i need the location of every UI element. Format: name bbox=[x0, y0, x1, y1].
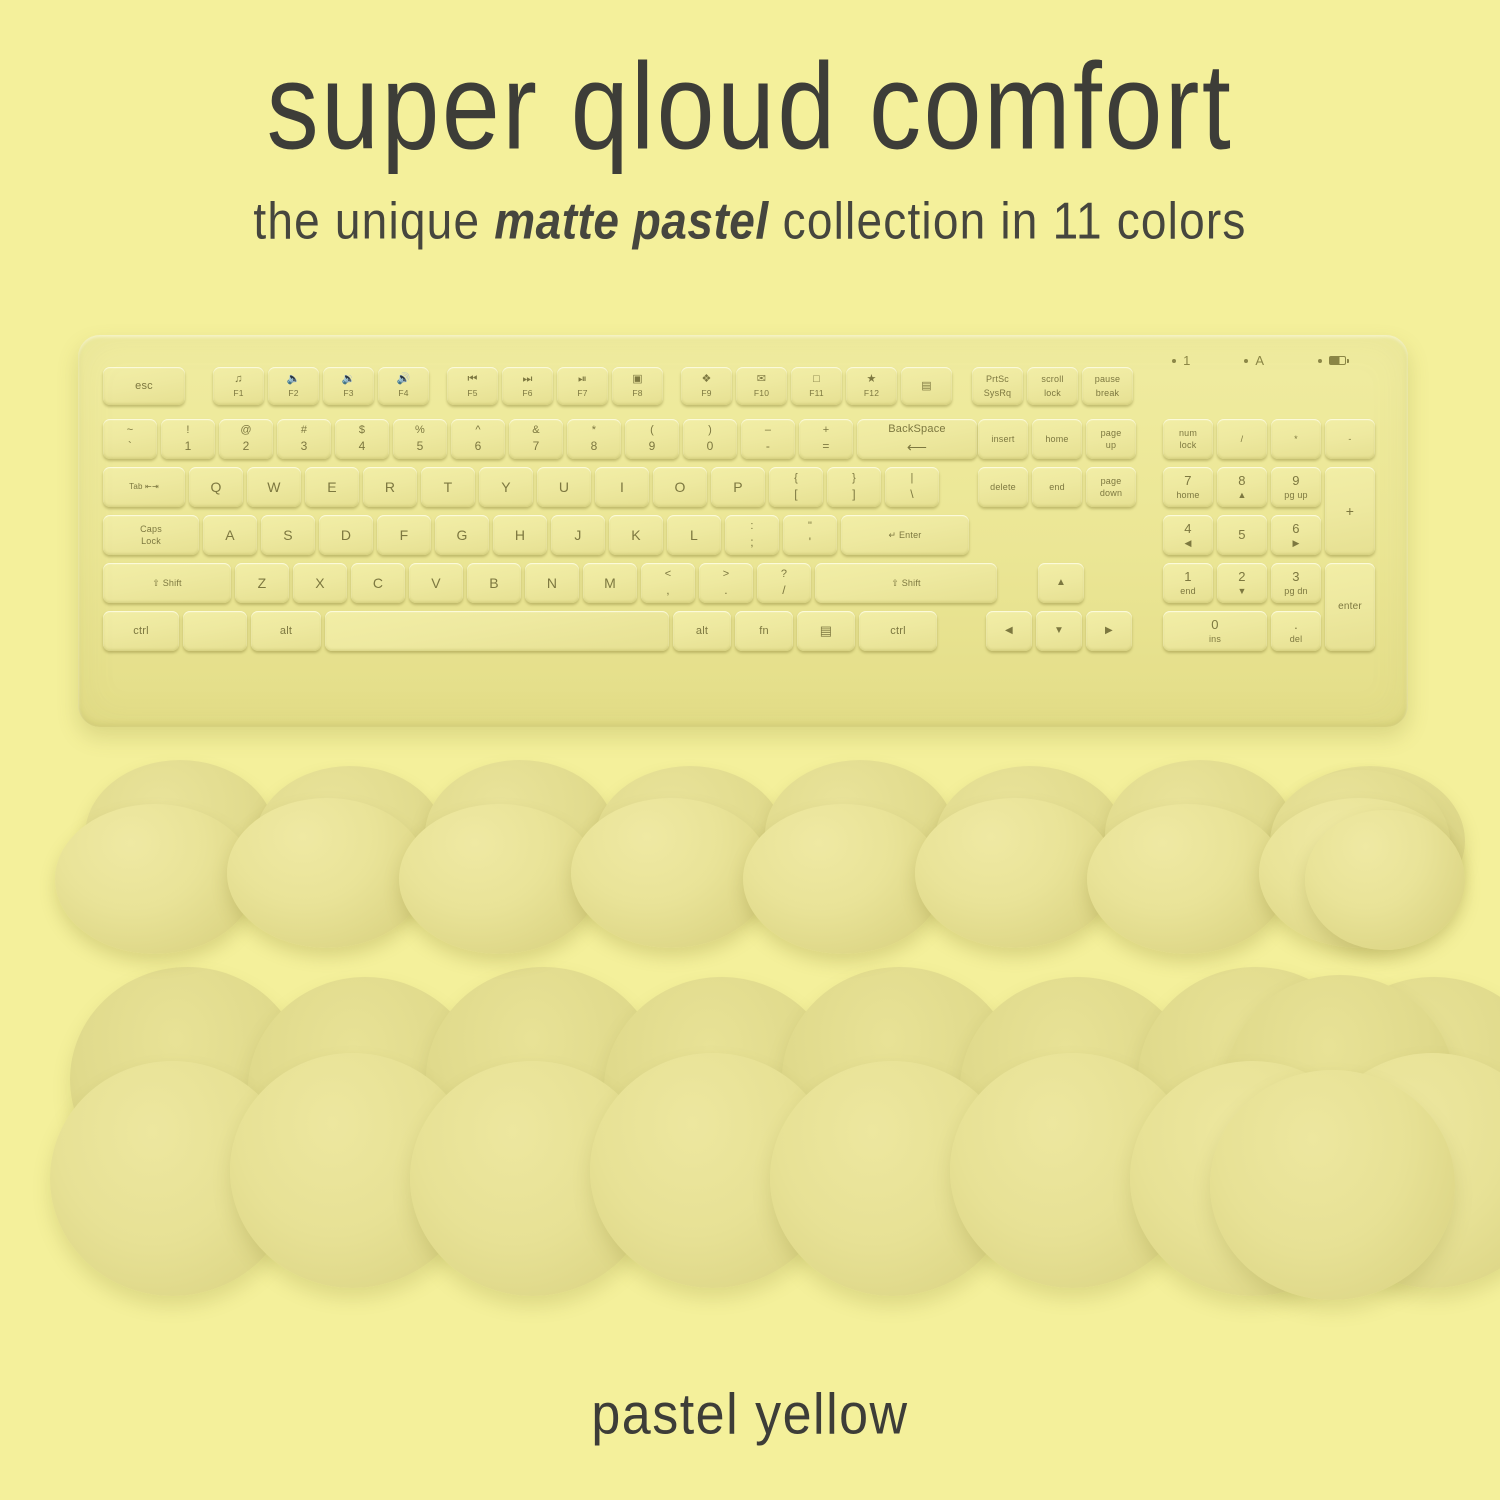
key-fn[interactable]: fn bbox=[735, 611, 793, 651]
key-label-f2: F2 bbox=[288, 389, 298, 399]
key-label-f4: F4 bbox=[398, 389, 408, 399]
key-enter[interactable]: ↵ Enter bbox=[841, 515, 969, 555]
key-base-6: 6 bbox=[475, 440, 482, 454]
led-dot-icon bbox=[1318, 359, 1322, 363]
key-bot: up bbox=[1106, 440, 1116, 450]
key-f11[interactable]: □F11 bbox=[791, 367, 842, 405]
wristrest-lobe bbox=[1087, 804, 1287, 954]
numpad-7-home[interactable]: 7home bbox=[1163, 467, 1213, 507]
key-pause[interactable]: pausebreak bbox=[1082, 367, 1133, 405]
indicator-leds: 1 A bbox=[1172, 353, 1346, 368]
key-f12[interactable]: ★F12 bbox=[846, 367, 897, 405]
key-digit: 4 bbox=[1184, 522, 1191, 537]
key-digit: 9 bbox=[1292, 474, 1299, 489]
key-9[interactable]: (9 bbox=[625, 419, 679, 459]
key-6[interactable]: ^6 bbox=[451, 419, 505, 459]
key-icon-f9: ❖ bbox=[701, 373, 711, 386]
wristrest-lobe bbox=[743, 804, 943, 954]
key-f4[interactable]: 🔊F4 bbox=[378, 367, 429, 405]
key-shift: ? bbox=[781, 568, 787, 581]
key-base-9: 9 bbox=[649, 440, 656, 454]
key-tab[interactable]: Tab ⇤⇥ bbox=[103, 467, 185, 507]
key-home[interactable]: home bbox=[1032, 419, 1082, 459]
key-base: . bbox=[724, 584, 728, 598]
key-l[interactable]: L bbox=[667, 515, 721, 555]
key-1[interactable]: !1 bbox=[161, 419, 215, 459]
numpad-key[interactable]: - bbox=[1325, 419, 1375, 459]
numpad-5[interactable]: 5 bbox=[1217, 515, 1267, 555]
key-label: end bbox=[1049, 482, 1065, 492]
key-base: [ bbox=[794, 488, 798, 502]
key-shift-key: + bbox=[823, 424, 830, 437]
key-top: num bbox=[1179, 428, 1197, 438]
key-digit: 6 bbox=[1292, 522, 1299, 537]
key-icon-f1: ♫ bbox=[234, 373, 242, 386]
numpad-num-lock[interactable]: numlock bbox=[1163, 419, 1213, 459]
key-alt: del bbox=[1290, 634, 1303, 644]
key-key[interactable]: –- bbox=[741, 419, 795, 459]
key-base: ] bbox=[852, 488, 856, 502]
key-o[interactable]: O bbox=[653, 467, 707, 507]
key-s[interactable]: S bbox=[261, 515, 315, 555]
key-i[interactable]: I bbox=[595, 467, 649, 507]
key-top-prtsc: PrtSc bbox=[986, 374, 1009, 384]
key-label-a: A bbox=[225, 527, 235, 543]
key-bot: down bbox=[1100, 488, 1122, 498]
key-key[interactable]: += bbox=[799, 419, 853, 459]
key-icon-f3: 🔉 bbox=[342, 373, 356, 386]
key-f8[interactable]: ▣F8 bbox=[612, 367, 663, 405]
key-icon-f4: 🔊 bbox=[397, 373, 411, 386]
key-top: page bbox=[1101, 476, 1122, 486]
key-alt: pg dn bbox=[1284, 586, 1308, 596]
key-icon-f12: ★ bbox=[866, 373, 876, 386]
wristrest-lobe bbox=[915, 798, 1115, 948]
numpad-9-pg-up[interactable]: 9pg up bbox=[1271, 467, 1321, 507]
key-digit: 7 bbox=[1184, 474, 1191, 489]
key-label-f6: F6 bbox=[522, 389, 532, 399]
key-digit: . bbox=[1294, 618, 1298, 633]
mousepad-lobe bbox=[1210, 1070, 1455, 1300]
key-shift: { bbox=[794, 472, 798, 485]
key-digit: 3 bbox=[1292, 570, 1299, 585]
backspace-arrow-icon: ⟵ bbox=[907, 439, 927, 455]
key-f5[interactable]: ⏮F5 bbox=[447, 367, 498, 405]
key-base-key: = bbox=[822, 440, 829, 454]
key-f10[interactable]: ✉F10 bbox=[736, 367, 787, 405]
key-5[interactable]: %5 bbox=[393, 419, 447, 459]
key-label: - bbox=[1348, 434, 1351, 444]
key-icon-f2: 🔈 bbox=[287, 373, 301, 386]
key-base-key: ` bbox=[128, 440, 132, 454]
key-label-p: P bbox=[733, 479, 743, 495]
key-label-d: D bbox=[341, 527, 351, 543]
key-b[interactable]: B bbox=[467, 563, 521, 603]
key-esc[interactable]: esc bbox=[103, 367, 185, 405]
key-0[interactable]: )0 bbox=[683, 419, 737, 459]
key-base-key: - bbox=[766, 440, 770, 454]
subtitle-emphasis: matte pastel bbox=[494, 192, 768, 250]
key-label-i: I bbox=[620, 479, 624, 495]
key-shift: : bbox=[750, 520, 753, 533]
key-base-7: 7 bbox=[533, 440, 540, 454]
key-shift-key: ~ bbox=[127, 424, 134, 437]
key-caps: Caps bbox=[140, 524, 162, 534]
led-dot-icon bbox=[1172, 359, 1176, 363]
key-alt: ▶ bbox=[1292, 538, 1299, 548]
numpad-8[interactable]: 8▲ bbox=[1217, 467, 1267, 507]
key-icon-f8: ▣ bbox=[632, 373, 643, 386]
key-esc-label: esc bbox=[135, 380, 153, 393]
key-f6[interactable]: ⏭F6 bbox=[502, 367, 553, 405]
key-left-shift-label: ⇧ Shift bbox=[152, 578, 181, 588]
battery-icon bbox=[1329, 356, 1346, 365]
key-key[interactable]: >. bbox=[699, 563, 753, 603]
key-digit: 0 bbox=[1211, 618, 1218, 633]
num-lock-led: 1 bbox=[1172, 353, 1190, 368]
caps-lock-led: A bbox=[1244, 353, 1264, 368]
key-4[interactable]: $4 bbox=[335, 419, 389, 459]
key-alt-right[interactable]: alt bbox=[673, 611, 731, 651]
arrow-right-icon: ▶ bbox=[1105, 625, 1113, 637]
keyboard: 1 A esc♫F1🔈F2🔉F3🔊F4⏮F5⏭F6⏯F7▣F8❖F9✉F10□F… bbox=[78, 335, 1408, 727]
numpad-2[interactable]: 2▼ bbox=[1217, 563, 1267, 603]
key-f1[interactable]: ♫F1 bbox=[213, 367, 264, 405]
key-backspace-label: BackSpace bbox=[888, 423, 945, 436]
key-base-5: 5 bbox=[417, 440, 424, 454]
arrow-up-icon: ▲ bbox=[1056, 577, 1066, 589]
key-label-menu: ▤ bbox=[820, 624, 832, 639]
key-page-up[interactable]: pageup bbox=[1086, 419, 1136, 459]
key-key[interactable]: {[ bbox=[769, 467, 823, 507]
key-a[interactable]: A bbox=[203, 515, 257, 555]
key-label: / bbox=[1241, 434, 1244, 444]
key-z[interactable]: Z bbox=[235, 563, 289, 603]
key-m[interactable]: M bbox=[583, 563, 637, 603]
key-label-t: T bbox=[444, 479, 453, 495]
key-label-f12: F12 bbox=[864, 389, 879, 399]
key-label-f3: F3 bbox=[343, 389, 353, 399]
key-label-g: G bbox=[456, 527, 467, 543]
numpad-3-pg-dn[interactable]: 3pg dn bbox=[1271, 563, 1321, 603]
key-shift: " bbox=[808, 520, 812, 533]
key-base-2: 2 bbox=[243, 440, 250, 454]
led-dot-icon bbox=[1244, 359, 1248, 363]
page-subtitle: the unique matte pastel collection in 11… bbox=[0, 195, 1500, 247]
key-base-4: 4 bbox=[359, 440, 366, 454]
key-label-u: U bbox=[559, 479, 569, 495]
key-label-f1: F1 bbox=[233, 389, 243, 399]
key-label: insert bbox=[991, 434, 1014, 444]
key-shift: | bbox=[910, 472, 913, 485]
key-label-ctrl-right: ctrl bbox=[890, 625, 905, 638]
key-label-f7: F7 bbox=[577, 389, 587, 399]
key-7[interactable]: &7 bbox=[509, 419, 563, 459]
key-insert[interactable]: insert bbox=[978, 419, 1028, 459]
key-3[interactable]: #3 bbox=[277, 419, 331, 459]
key-f3[interactable]: 🔉F3 bbox=[323, 367, 374, 405]
product-image-canvas: super qloud comfort the unique matte pas… bbox=[0, 0, 1500, 1500]
key-8[interactable]: *8 bbox=[567, 419, 621, 459]
key-end[interactable]: end bbox=[1032, 467, 1082, 507]
key-label-fn: fn bbox=[759, 625, 769, 638]
numpad-enter-label: enter bbox=[1338, 601, 1362, 613]
key-enter-label: ↵ Enter bbox=[889, 530, 922, 540]
page-title: super qloud comfort bbox=[0, 46, 1500, 169]
key-label-f8: F8 bbox=[632, 389, 642, 399]
key-arrow-up[interactable]: ▲ bbox=[1038, 563, 1084, 603]
numpad-1-end[interactable]: 1end bbox=[1163, 563, 1213, 603]
key-label-y: Y bbox=[501, 479, 511, 495]
key-lock: Lock bbox=[141, 536, 161, 546]
key-shift-5: % bbox=[415, 424, 425, 437]
key-h[interactable]: H bbox=[493, 515, 547, 555]
key-bot-break: break bbox=[1096, 388, 1120, 398]
key-calculator[interactable]: ▤ bbox=[901, 367, 952, 405]
key-label-alt-right: alt bbox=[696, 625, 708, 638]
key-base-3: 3 bbox=[301, 440, 308, 454]
wristrest-lobe bbox=[1305, 810, 1465, 950]
key-digit: 5 bbox=[1238, 528, 1245, 543]
key-y[interactable]: Y bbox=[479, 467, 533, 507]
key-f7[interactable]: ⏯F7 bbox=[557, 367, 608, 405]
key-key[interactable]: "' bbox=[783, 515, 837, 555]
key-label-f10: F10 bbox=[754, 389, 769, 399]
key-label-h: H bbox=[515, 527, 525, 543]
key-base-1: 1 bbox=[185, 440, 192, 454]
key-label-plus: + bbox=[1346, 503, 1354, 519]
wristrest-lobe bbox=[399, 804, 599, 954]
key-q[interactable]: Q bbox=[189, 467, 243, 507]
key-top: page bbox=[1101, 428, 1122, 438]
key-label-f9: F9 bbox=[701, 389, 711, 399]
subtitle-prefix: the unique bbox=[253, 192, 494, 250]
key-w[interactable]: W bbox=[247, 467, 301, 507]
key-top-scroll: scroll bbox=[1041, 374, 1063, 384]
key-shift-9: ( bbox=[650, 424, 654, 437]
key-shift-2: @ bbox=[240, 424, 251, 437]
key-shift-4: $ bbox=[359, 424, 365, 437]
key-e[interactable]: E bbox=[305, 467, 359, 507]
key-label: home bbox=[1045, 434, 1068, 444]
key-ctrl-right[interactable]: ctrl bbox=[859, 611, 937, 651]
key-arrow-right[interactable]: ▶ bbox=[1086, 611, 1132, 651]
key-left-shift[interactable]: ⇧ Shift bbox=[103, 563, 231, 603]
key-key[interactable]: }] bbox=[827, 467, 881, 507]
key-key[interactable]: ?/ bbox=[757, 563, 811, 603]
key-backspace[interactable]: BackSpace⟵ bbox=[857, 419, 977, 459]
key-bot-lock: lock bbox=[1044, 388, 1061, 398]
key-label-o: O bbox=[674, 479, 685, 495]
caps-lock-led-label: A bbox=[1255, 353, 1264, 368]
key-tab-label: Tab ⇤⇥ bbox=[129, 482, 159, 491]
key-shift-6: ^ bbox=[475, 424, 480, 437]
key-icon-f11: □ bbox=[813, 373, 820, 386]
key-icon-f10: ✉ bbox=[757, 373, 766, 386]
key-page-down[interactable]: pagedown bbox=[1086, 467, 1136, 507]
key-icon-f5: ⏮ bbox=[467, 373, 477, 386]
key-top-pause: pause bbox=[1095, 374, 1121, 384]
key-digit: 2 bbox=[1238, 570, 1245, 585]
key-j[interactable]: J bbox=[551, 515, 605, 555]
numpad-plus[interactable]: + bbox=[1325, 467, 1375, 555]
key-label-v: V bbox=[431, 575, 441, 591]
key-arrow-left[interactable]: ◀ bbox=[986, 611, 1032, 651]
key-scroll[interactable]: scrolllock bbox=[1027, 367, 1078, 405]
key-2[interactable]: @2 bbox=[219, 419, 273, 459]
key-label-l: L bbox=[690, 527, 698, 543]
key-base-0: 0 bbox=[707, 440, 714, 454]
key-label: delete bbox=[990, 482, 1016, 492]
key-label-b: B bbox=[489, 575, 499, 591]
key-x[interactable]: X bbox=[293, 563, 347, 603]
numpad-6[interactable]: 6▶ bbox=[1271, 515, 1321, 555]
key-g[interactable]: G bbox=[435, 515, 489, 555]
key-shift-3: # bbox=[301, 424, 307, 437]
key-bot: lock bbox=[1180, 440, 1197, 450]
key-space[interactable] bbox=[325, 611, 669, 651]
key-prtsc[interactable]: PrtScSysRq bbox=[972, 367, 1023, 405]
key-label-z: Z bbox=[258, 575, 267, 591]
key-label-m: M bbox=[604, 575, 616, 591]
key-shift-0: ) bbox=[708, 424, 712, 437]
key-caps-lock[interactable]: CapsLock bbox=[103, 515, 199, 555]
key-r[interactable]: R bbox=[363, 467, 417, 507]
wristrest-lobe bbox=[55, 804, 255, 954]
wrist-rest-product bbox=[55, 752, 1455, 987]
battery-led bbox=[1318, 356, 1346, 365]
numpad-dot-del[interactable]: .del bbox=[1271, 611, 1321, 651]
key-key[interactable]: ~` bbox=[103, 419, 157, 459]
key-label-f5: F5 bbox=[467, 389, 477, 399]
numpad-enter[interactable]: enter bbox=[1325, 563, 1375, 651]
key-label-r: R bbox=[385, 479, 395, 495]
key-digit: 8 bbox=[1238, 474, 1245, 489]
key-shift: < bbox=[665, 568, 672, 581]
arrow-down-icon: ▼ bbox=[1054, 625, 1064, 637]
key-label-x: X bbox=[315, 575, 325, 591]
key-t[interactable]: T bbox=[421, 467, 475, 507]
key-shift-7: & bbox=[532, 424, 540, 437]
color-caption: pastel yellow bbox=[0, 1382, 1500, 1448]
wristrest-lobe bbox=[571, 798, 771, 948]
key-label-w: W bbox=[267, 479, 280, 495]
key-f[interactable]: F bbox=[377, 515, 431, 555]
key-alt: pg up bbox=[1284, 490, 1308, 500]
key-alt: end bbox=[1180, 586, 1196, 596]
key-icon-f6: ⏭ bbox=[522, 373, 532, 386]
key-alt: ins bbox=[1209, 634, 1221, 644]
key-alt[interactable]: alt bbox=[251, 611, 321, 651]
key-shift-key: – bbox=[765, 424, 771, 437]
key-label-s: S bbox=[283, 527, 293, 543]
numpad-4[interactable]: 4◀ bbox=[1163, 515, 1213, 555]
key-bot-sysrq: SysRq bbox=[984, 388, 1012, 398]
key-label-k: K bbox=[631, 527, 641, 543]
key-label-n: N bbox=[547, 575, 557, 591]
key-win[interactable] bbox=[183, 611, 247, 651]
key-v[interactable]: V bbox=[409, 563, 463, 603]
key-label-c: C bbox=[373, 575, 383, 591]
key-f9[interactable]: ❖F9 bbox=[681, 367, 732, 405]
key-ctrl[interactable]: ctrl bbox=[103, 611, 179, 651]
key-shift: } bbox=[852, 472, 856, 485]
key-label-ctrl: ctrl bbox=[133, 625, 148, 638]
key-menu[interactable]: ▤ bbox=[797, 611, 855, 651]
numpad-0-ins[interactable]: 0ins bbox=[1163, 611, 1267, 651]
key-right-shift[interactable]: ⇧ Shift bbox=[815, 563, 997, 603]
key-label-f: F bbox=[400, 527, 409, 543]
key-right-shift-label: ⇧ Shift bbox=[891, 578, 920, 588]
key-base: / bbox=[782, 584, 786, 598]
key-label-q: Q bbox=[210, 479, 221, 495]
key-shift-1: ! bbox=[186, 424, 189, 437]
key-alt: ▼ bbox=[1237, 586, 1246, 596]
key-p[interactable]: P bbox=[711, 467, 765, 507]
key-base-8: 8 bbox=[591, 440, 598, 454]
key-k[interactable]: K bbox=[609, 515, 663, 555]
key-label-e: E bbox=[327, 479, 337, 495]
key-digit: 1 bbox=[1184, 570, 1191, 585]
key-key[interactable]: :; bbox=[725, 515, 779, 555]
key-delete[interactable]: delete bbox=[978, 467, 1028, 507]
key-alt: home bbox=[1176, 490, 1199, 500]
key-base: ; bbox=[750, 536, 754, 550]
key-label-f11: F11 bbox=[809, 389, 824, 399]
key-base: \ bbox=[910, 488, 914, 502]
key-d[interactable]: D bbox=[319, 515, 373, 555]
key-arrow-down[interactable]: ▼ bbox=[1036, 611, 1082, 651]
key-label-alt: alt bbox=[280, 625, 292, 638]
key-key[interactable]: <, bbox=[641, 563, 695, 603]
key-f2[interactable]: 🔈F2 bbox=[268, 367, 319, 405]
key-u[interactable]: U bbox=[537, 467, 591, 507]
numpad-key[interactable]: * bbox=[1271, 419, 1321, 459]
mouse-pad-product bbox=[50, 965, 1460, 1310]
key-c[interactable]: C bbox=[351, 563, 405, 603]
calculator-icon: ▤ bbox=[921, 380, 932, 393]
key-base: ' bbox=[809, 536, 812, 550]
num-lock-led-label: 1 bbox=[1183, 353, 1190, 368]
wristrest-lobe bbox=[227, 798, 427, 948]
arrow-left-icon: ◀ bbox=[1005, 625, 1013, 637]
key-key[interactable]: |\ bbox=[885, 467, 939, 507]
key-alt: ▲ bbox=[1237, 490, 1246, 500]
key-shift-8: * bbox=[592, 424, 596, 437]
key-alt: ◀ bbox=[1184, 538, 1191, 548]
key-label: * bbox=[1294, 434, 1298, 444]
key-label-j: J bbox=[574, 527, 581, 543]
numpad-key[interactable]: / bbox=[1217, 419, 1267, 459]
key-n[interactable]: N bbox=[525, 563, 579, 603]
key-shift: > bbox=[723, 568, 730, 581]
subtitle-suffix: collection in 11 colors bbox=[769, 192, 1247, 250]
key-base: , bbox=[666, 584, 670, 598]
key-icon-f7: ⏯ bbox=[578, 373, 587, 386]
